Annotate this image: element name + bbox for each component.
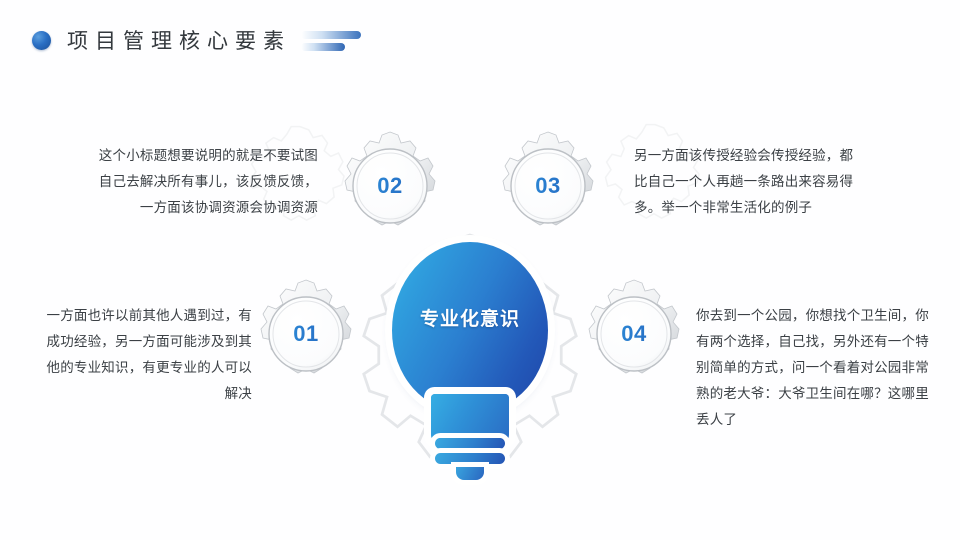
title-bar-long-icon [301, 31, 361, 39]
title-decoration-bars [301, 29, 361, 51]
slide-canvas: 项目管理核心要素 专业化意识 [0, 0, 960, 540]
title-bar-short-icon [301, 43, 345, 51]
lightbulb-thread-1 [435, 438, 505, 449]
slide-header: 项目管理核心要素 [32, 22, 361, 58]
description-text-03: 另一方面该传授经验会传授经验，都比自己一个人再趟一条路出来容易得多。举一个非常生… [634, 143, 860, 221]
gear-number-03: 03 [492, 130, 604, 242]
lightbulb-icon[interactable]: 专业化意识 [383, 242, 557, 478]
lightbulb-tip [456, 467, 484, 480]
lightbulb-thread-2 [435, 453, 505, 464]
bullet-dot-icon [32, 31, 51, 50]
description-text-04: 你去到一个公园，你想找个卫生间，你有两个选择，自己找，另外还有一个特别简单的方式… [696, 303, 930, 433]
gear-number-01: 01 [250, 278, 362, 390]
description-text-01: 一方面也许以前其他人遇到过，有成功经验，另一方面可能涉及到其他的专业知识，有更专… [36, 303, 252, 407]
page-title: 项目管理核心要素 [67, 25, 291, 55]
description-text-02: 这个小标题想要说明的就是不要试图自己去解决所有事儿，该反馈反馈，一方面该协调资源… [96, 143, 318, 221]
gear-item-02[interactable]: 02 [334, 130, 446, 242]
gear-item-03[interactable]: 03 [492, 130, 604, 242]
gear-number-04: 04 [578, 278, 690, 390]
center-label: 专业化意识 [392, 304, 548, 331]
gear-item-01[interactable]: 01 [250, 278, 362, 390]
lightbulb-neck [431, 394, 509, 442]
gear-number-02: 02 [334, 130, 446, 242]
gear-item-04[interactable]: 04 [578, 278, 690, 390]
